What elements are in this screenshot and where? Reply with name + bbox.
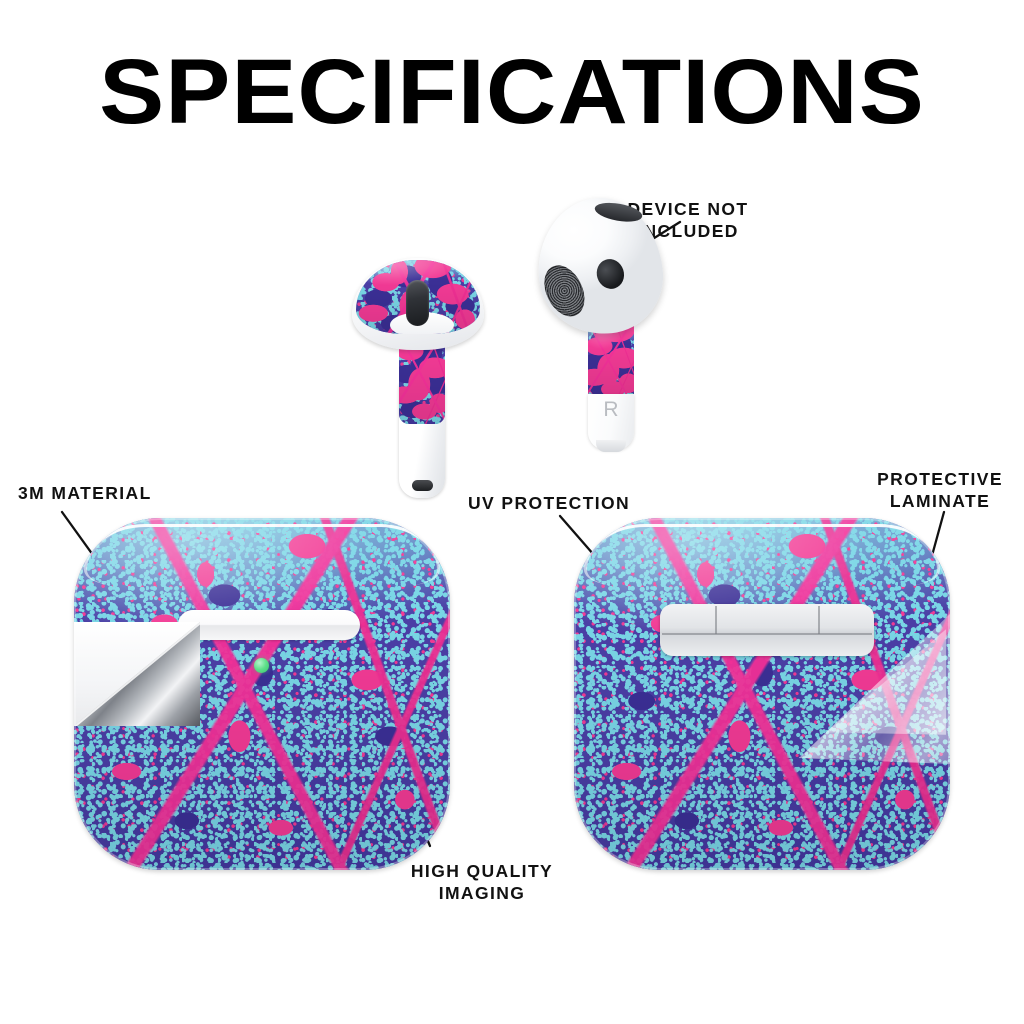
specifications-page: SPECIFICATIONS DEVICE NOT INCLUDED 3M MA… [0,0,1024,1024]
charging-case-back [574,518,950,870]
earbud-left-sensor [406,280,429,326]
callout-protective-laminate: PROTECTIVE LAMINATE [877,468,1003,513]
earbud-right: R [538,188,688,450]
earbud-right-sensor-dot [593,256,628,293]
earbud-right-speaker-slot [593,200,643,225]
case-front-lid-slot [178,610,360,640]
case-back-hinge-bar [660,604,874,656]
callout-uv-protection: UV PROTECTION [468,492,630,514]
earbud-right-stem-skin [588,324,634,398]
case-front-status-led [254,658,269,673]
earbud-left [352,258,484,502]
3m-material-peel [74,622,200,726]
earbud-right-mesh-grille [536,259,592,323]
earbud-right-marking: R [588,398,634,422]
earbud-left-stem-tip [412,480,433,491]
earbud-right-stem-tip [596,440,626,452]
page-title: SPECIFICATIONS [0,46,1024,138]
callout-3m-material: 3M MATERIAL [18,482,152,504]
earbud-right-head [531,192,669,340]
charging-case-front [74,518,450,870]
